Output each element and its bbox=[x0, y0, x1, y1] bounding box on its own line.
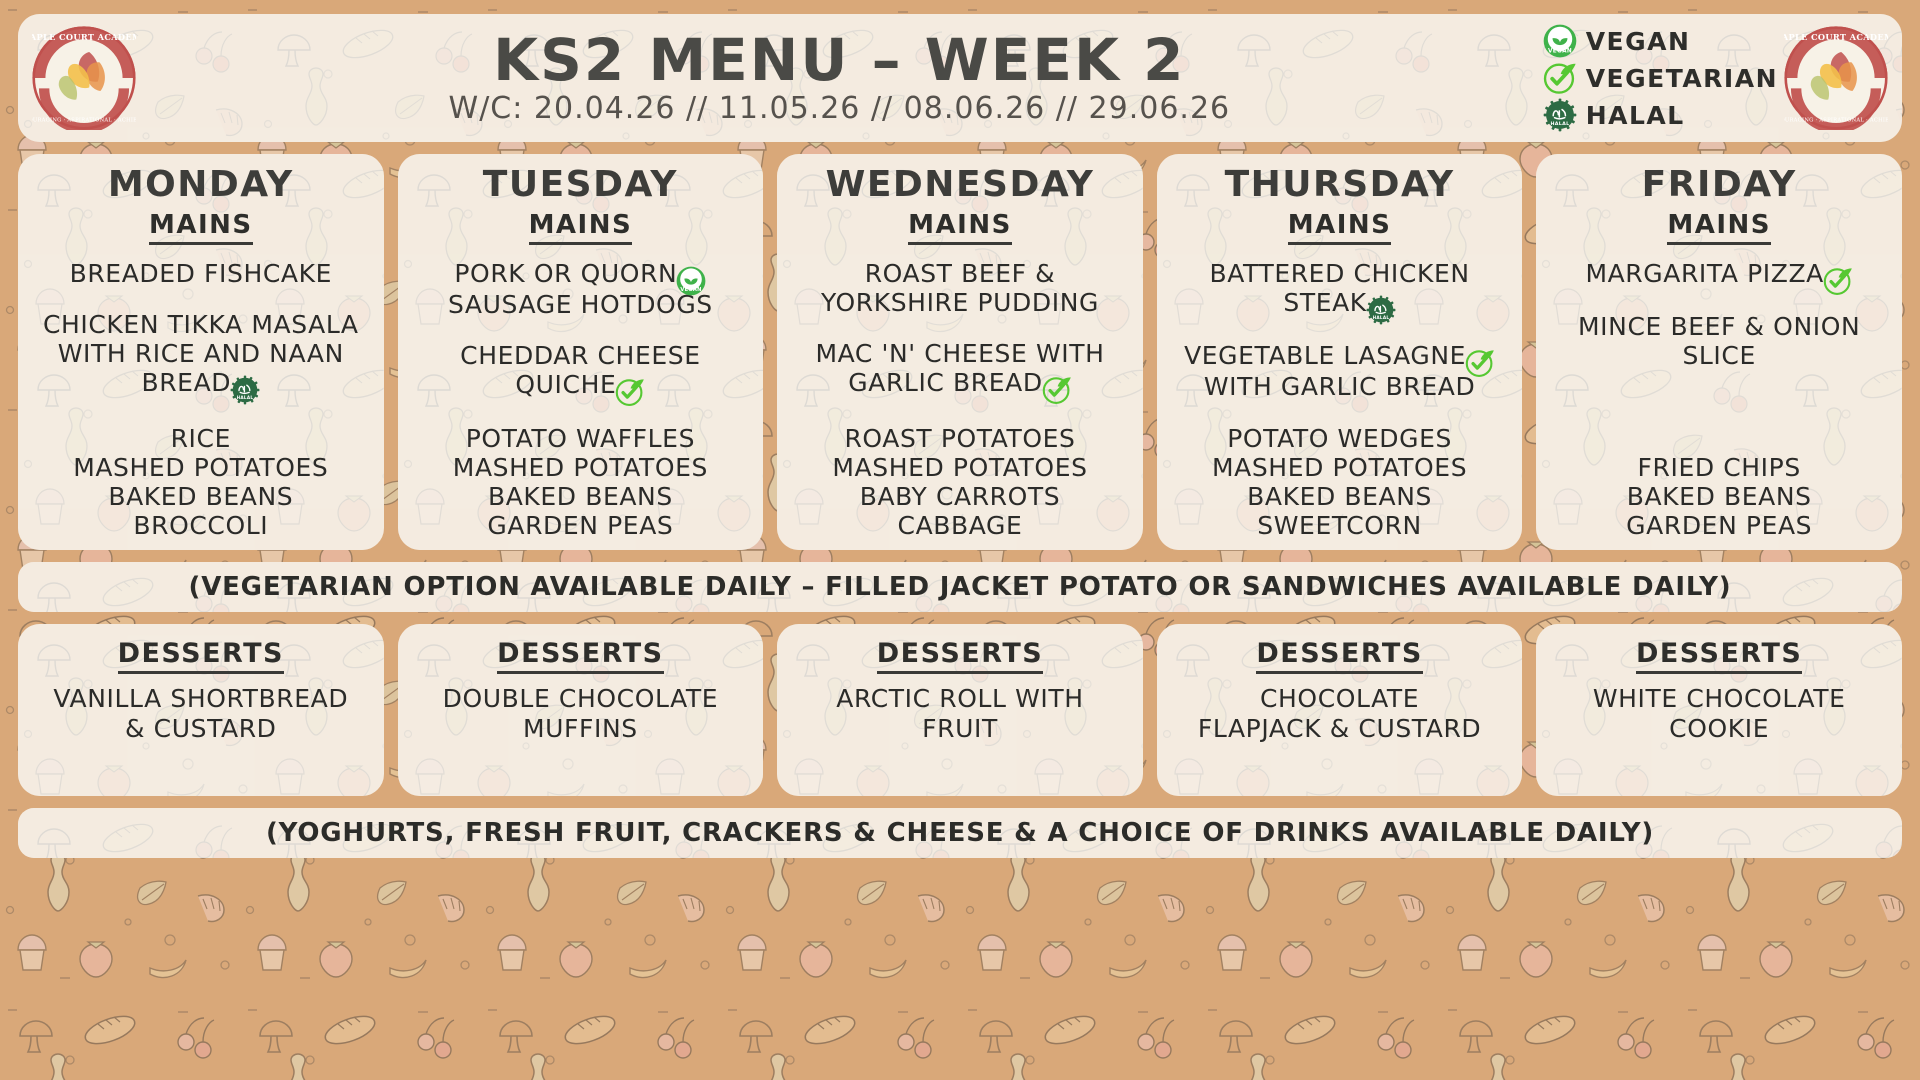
dessert-item: DOUBLE CHOCOLATE MUFFINS bbox=[443, 684, 718, 743]
dessert-line: MUFFINS bbox=[523, 714, 638, 743]
day-title: WEDNESDAY bbox=[826, 166, 1095, 204]
vegan-badge-icon bbox=[1543, 24, 1577, 58]
dish-line: YORKSHIRE PUDDING bbox=[821, 288, 1099, 317]
dish-line: GARLIC BREAD bbox=[848, 368, 1042, 397]
vegetarian-note-banner: (VEGETARIAN OPTION AVAILABLE DAILY – FIL… bbox=[18, 562, 1902, 612]
side-line: BABY CARROTS bbox=[860, 482, 1061, 511]
dessert-line: CHOCOLATE bbox=[1260, 684, 1419, 713]
day-column-monday: MONDAY MAINS BREADED FISHCAKE CHICKEN TI… bbox=[18, 154, 384, 550]
legend-item-halal: HALAL bbox=[1543, 97, 1778, 133]
dessert-line: VANILLA SHORTBREAD bbox=[53, 684, 348, 713]
mains-heading: MAINS bbox=[1288, 210, 1392, 245]
day-title: TUESDAY bbox=[483, 166, 678, 204]
day-column-tuesday: TUESDAY MAINS PORK OR QUORN SAUSAGE HOTD… bbox=[398, 154, 764, 550]
desserts-heading: DESSERTS bbox=[877, 638, 1043, 674]
main-dish: BREADED FISHCAKE bbox=[70, 259, 332, 288]
dessert-line: ARCTIC ROLL WITH bbox=[836, 684, 1083, 713]
day-title: THURSDAY bbox=[1225, 166, 1455, 204]
dessert-line: FLAPJACK & CUSTARD bbox=[1198, 714, 1481, 743]
desserts-heading: DESSERTS bbox=[497, 638, 663, 674]
main-dish: MARGARITA PIZZA bbox=[1585, 259, 1852, 290]
side-line: MASHED POTATOES bbox=[1212, 453, 1467, 482]
dish-line: QUICHE bbox=[515, 370, 616, 399]
day-column-wednesday: WEDNESDAY MAINS ROAST BEEF & YORKSHIRE P… bbox=[777, 154, 1143, 550]
dessert-line: DOUBLE CHOCOLATE bbox=[443, 684, 718, 713]
school-logo-right-icon bbox=[1784, 26, 1888, 130]
vegetarian-note-text: (VEGETARIAN OPTION AVAILABLE DAILY – FIL… bbox=[189, 572, 1732, 602]
main-dish: CHICKEN TIKKA MASALA WITH RICE AND NAAN … bbox=[43, 310, 359, 399]
dessert-line: COOKIE bbox=[1669, 714, 1769, 743]
side-line: GARDEN PEAS bbox=[487, 511, 673, 540]
extras-note-banner: (YOGHURTS, FRESH FRUIT, CRACKERS & CHEES… bbox=[18, 808, 1902, 858]
side-line: ROAST POTATOES bbox=[844, 424, 1075, 453]
side-line: BAKED BEANS bbox=[108, 482, 293, 511]
side-line: CABBAGE bbox=[898, 511, 1023, 540]
dish-line: BREAD bbox=[141, 368, 231, 397]
vegetarian-badge-icon bbox=[1465, 348, 1495, 378]
vegetarian-badge-icon bbox=[1823, 266, 1853, 296]
side-line: BAKED BEANS bbox=[1247, 482, 1432, 511]
week-commencing-dates: W/C: 20.04.26 // 11.05.26 // 08.06.26 //… bbox=[449, 91, 1231, 126]
mains-heading: MAINS bbox=[908, 210, 1012, 245]
side-dishes: ROAST POTATOES MASHED POTATOES BABY CARR… bbox=[832, 424, 1087, 540]
side-dishes: POTATO WEDGES MASHED POTATOES BAKED BEAN… bbox=[1212, 424, 1467, 540]
extras-note-text: (YOGHURTS, FRESH FRUIT, CRACKERS & CHEES… bbox=[266, 818, 1654, 848]
side-line: POTATO WEDGES bbox=[1227, 424, 1452, 453]
main-dish: PORK OR QUORN SAUSAGE HOTDOGS bbox=[448, 259, 713, 319]
main-dish: VEGETABLE LASAGNE WITH GARLIC BREAD bbox=[1184, 341, 1495, 401]
dessert-card-monday: DESSERTS VANILLA SHORTBREAD & CUSTARD bbox=[18, 624, 384, 796]
dish-line: MINCE BEEF & ONION bbox=[1578, 312, 1860, 341]
day-title: MONDAY bbox=[108, 166, 294, 204]
page-title: KS2 MENU – WEEK 2 bbox=[493, 31, 1185, 89]
vegetarian-badge-icon bbox=[615, 377, 645, 407]
dessert-card-thursday: DESSERTS CHOCOLATE FLAPJACK & CUSTARD bbox=[1157, 624, 1523, 796]
side-dishes: POTATO WAFFLES MASHED POTATOES BAKED BEA… bbox=[453, 424, 708, 540]
mains-heading: MAINS bbox=[1667, 210, 1771, 245]
dessert-item: WHITE CHOCOLATE COOKIE bbox=[1593, 684, 1846, 743]
dish-line: STEAK bbox=[1283, 288, 1366, 317]
halal-badge-icon bbox=[1543, 98, 1577, 132]
dish-line: SAUSAGE HOTDOGS bbox=[448, 290, 713, 319]
header-card: KS2 MENU – WEEK 2 W/C: 20.04.26 // 11.05… bbox=[18, 14, 1902, 142]
dessert-item: ARCTIC ROLL WITH FRUIT bbox=[836, 684, 1083, 743]
dessert-item: CHOCOLATE FLAPJACK & CUSTARD bbox=[1198, 684, 1481, 743]
side-line: FRIED CHIPS bbox=[1638, 453, 1801, 482]
side-line: GARDEN PEAS bbox=[1626, 511, 1812, 540]
day-column-thursday: THURSDAY MAINS BATTERED CHICKEN STEAK VE… bbox=[1157, 154, 1523, 550]
desserts-heading: DESSERTS bbox=[1636, 638, 1802, 674]
day-columns: MONDAY MAINS BREADED FISHCAKE CHICKEN TI… bbox=[18, 154, 1902, 550]
school-logo-left-icon bbox=[32, 26, 136, 130]
halal-badge-icon bbox=[1366, 295, 1396, 325]
dish-line: MARGARITA PIZZA bbox=[1585, 259, 1823, 288]
dish-line: WITH GARLIC BREAD bbox=[1204, 372, 1476, 401]
side-line: BAKED BEANS bbox=[1627, 482, 1812, 511]
dish-line: VEGETABLE LASAGNE bbox=[1184, 341, 1466, 370]
mains-heading: MAINS bbox=[149, 210, 253, 245]
day-column-friday: FRIDAY MAINS MARGARITA PIZZA MINCE BEEF … bbox=[1536, 154, 1902, 550]
dessert-item: VANILLA SHORTBREAD & CUSTARD bbox=[53, 684, 348, 743]
legend-item-vegetarian: VEGETARIAN bbox=[1543, 60, 1778, 96]
side-line: RICE bbox=[171, 424, 231, 453]
main-dish: BATTERED CHICKEN STEAK bbox=[1210, 259, 1470, 319]
side-line: MASHED POTATOES bbox=[73, 453, 328, 482]
main-dish: ROAST BEEF & YORKSHIRE PUDDING bbox=[821, 259, 1099, 317]
dietary-legend: VEGAN VEGETARIAN HALAL bbox=[1543, 23, 1778, 133]
dish-line: SLICE bbox=[1682, 341, 1755, 370]
desserts-heading: DESSERTS bbox=[1256, 638, 1422, 674]
legend-label-vegan: VEGAN bbox=[1586, 27, 1691, 56]
main-dish: MINCE BEEF & ONION SLICE bbox=[1578, 312, 1860, 370]
side-line: MASHED POTATOES bbox=[832, 453, 1087, 482]
legend-label-vegetarian: VEGETARIAN bbox=[1586, 64, 1778, 93]
dish-line: ROAST BEEF & bbox=[865, 259, 1056, 288]
halal-badge-icon bbox=[230, 375, 260, 405]
menu-page: KS2 MENU – WEEK 2 W/C: 20.04.26 // 11.05… bbox=[0, 0, 1920, 1080]
side-line: SWEETCORN bbox=[1257, 511, 1422, 540]
legend-item-vegan: VEGAN bbox=[1543, 23, 1778, 59]
side-line: MASHED POTATOES bbox=[453, 453, 708, 482]
dessert-card-tuesday: DESSERTS DOUBLE CHOCOLATE MUFFINS bbox=[398, 624, 764, 796]
dish-line: PORK OR QUORN bbox=[454, 259, 677, 288]
mains-heading: MAINS bbox=[529, 210, 633, 245]
header-titles: KS2 MENU – WEEK 2 W/C: 20.04.26 // 11.05… bbox=[136, 31, 1543, 126]
dish-line: WITH RICE AND NAAN bbox=[58, 339, 344, 368]
vegetarian-badge-icon bbox=[1543, 61, 1577, 95]
dessert-card-wednesday: DESSERTS ARCTIC ROLL WITH FRUIT bbox=[777, 624, 1143, 796]
vegan-badge-icon bbox=[676, 266, 706, 296]
dessert-line: FRUIT bbox=[922, 714, 998, 743]
legend-label-halal: HALAL bbox=[1586, 101, 1685, 130]
side-line: BROCCOLI bbox=[133, 511, 268, 540]
dish-line: CHICKEN TIKKA MASALA bbox=[43, 310, 359, 339]
side-dishes: RICE MASHED POTATOES BAKED BEANS BROCCOL… bbox=[73, 424, 328, 540]
dish-line: BATTERED CHICKEN bbox=[1210, 259, 1470, 288]
side-line: BAKED BEANS bbox=[488, 482, 673, 511]
side-line: POTATO WAFFLES bbox=[466, 424, 695, 453]
dish-line: CHEDDAR CHEESE bbox=[460, 341, 700, 370]
main-dish: MAC 'N' CHEESE WITH GARLIC BREAD bbox=[815, 339, 1104, 399]
main-dish: CHEDDAR CHEESE QUICHE bbox=[460, 341, 700, 401]
day-title: FRIDAY bbox=[1642, 166, 1797, 204]
vegetarian-badge-icon bbox=[1042, 375, 1072, 405]
dessert-columns: DESSERTS VANILLA SHORTBREAD & CUSTARD DE… bbox=[18, 624, 1902, 796]
dessert-line: & CUSTARD bbox=[125, 714, 277, 743]
dish-line: BREADED FISHCAKE bbox=[70, 259, 332, 288]
side-dishes: FRIED CHIPS BAKED BEANS GARDEN PEAS bbox=[1626, 453, 1812, 540]
dish-line: MAC 'N' CHEESE WITH bbox=[815, 339, 1104, 368]
dessert-card-friday: DESSERTS WHITE CHOCOLATE COOKIE bbox=[1536, 624, 1902, 796]
dessert-line: WHITE CHOCOLATE bbox=[1593, 684, 1846, 713]
desserts-heading: DESSERTS bbox=[118, 638, 284, 674]
